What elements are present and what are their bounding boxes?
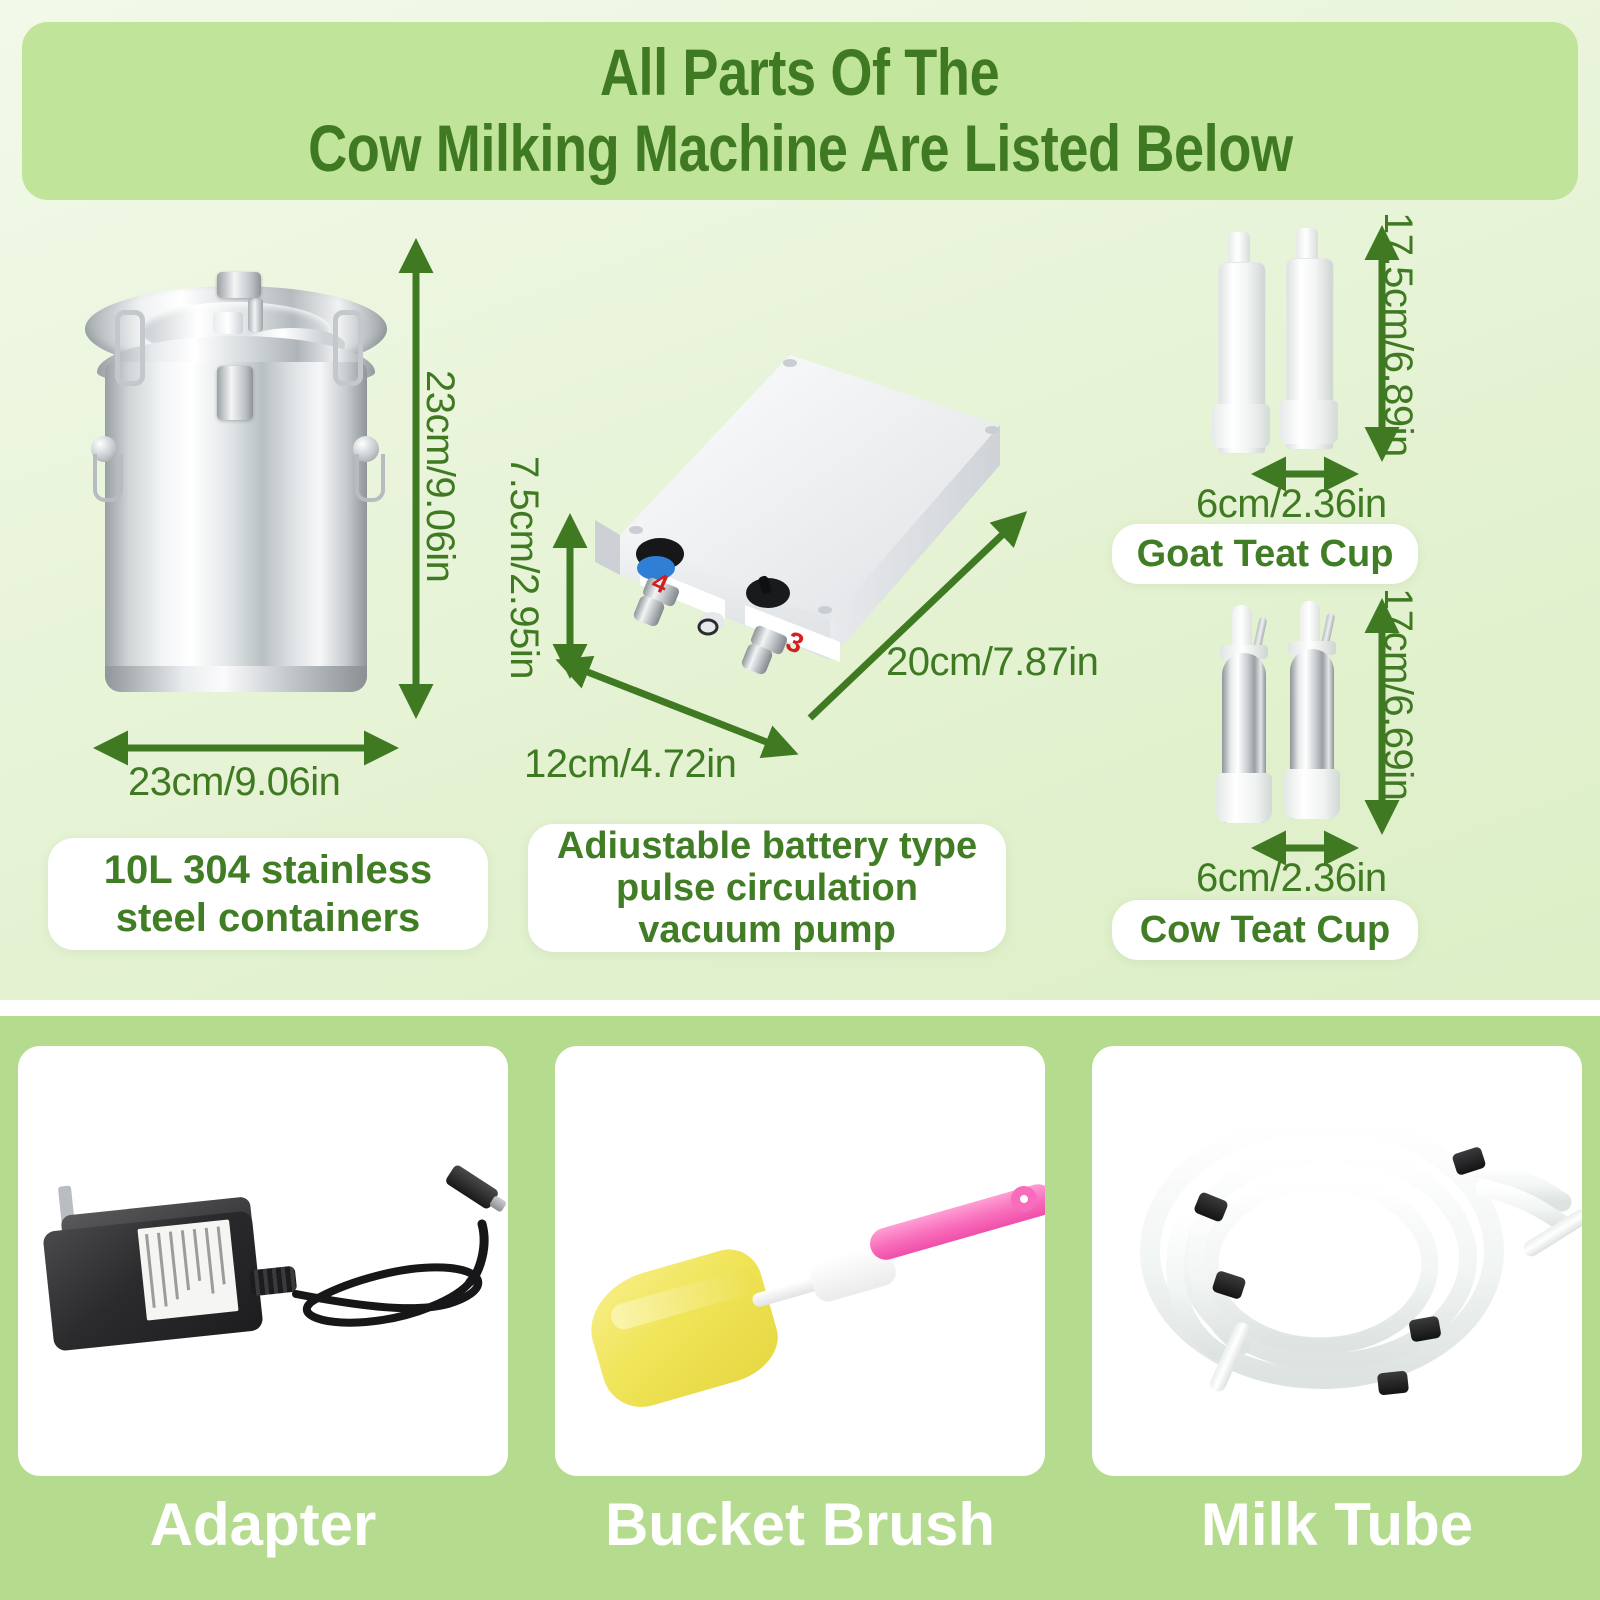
goat-cup-caption-pill: Goat Teat Cup [1112,524,1418,584]
bucket-caption-line2: steel containers [116,894,421,942]
bucket-brush-card [555,1046,1045,1476]
milk-tube-card [1092,1046,1582,1476]
bucket-height-label: 23cm/9.06in [417,370,462,582]
bottom-accessories-section: Adapter Bucket Brush Milk Tube [0,1016,1600,1600]
brush-sponge-head [579,1242,788,1417]
cow-cup-base-right [1284,769,1340,819]
cow-cup-height-label: 17cm/6.69in [1375,588,1420,800]
header-title-line2: Cow Milking Machine Are Listed Below [308,109,1293,187]
milk-tube-coil [1092,1046,1582,1476]
cow-cup-caption-pill: Cow Teat Cup [1112,900,1418,960]
goat-cup-height-label: 17.5cm/6.89in [1375,212,1420,457]
bucket-lid-knob [213,312,243,334]
goat-teat-cup-image [1200,232,1370,452]
header-banner: All Parts Of The Cow Milking Machine Are… [22,22,1578,200]
bucket-hook-right [355,454,385,502]
pump-width-label: 12cm/4.72in [524,742,736,787]
top-parts-section: All Parts Of The Cow Milking Machine Are… [0,0,1600,1000]
bucket-caption-pill: 10L 304 stainless steel containers [48,838,488,950]
bucket-caption-line1: 10L 304 stainless [104,846,432,894]
pump-left-edge [595,520,620,575]
tube-clip-5 [1377,1370,1409,1395]
pump-caption-line2: pulse circulation [616,867,918,909]
goat-cup-base-left [1212,404,1270,448]
header-title-line1: All Parts Of The [600,35,999,109]
bucket-latch-right [333,310,363,386]
pump-screw-right [985,426,999,434]
pump-height-label: 7.5cm/2.95in [501,456,546,679]
bucket-brush-caption: Bucket Brush [555,1490,1045,1559]
pump-screw-front-right [818,606,832,614]
bucket-vacuum-port [248,298,263,332]
cow-teat-cup-image [1200,605,1370,825]
milk-bucket-image [75,240,395,710]
pump-caption-line1: Adiustable battery type [557,825,977,867]
adapter-caption: Adapter [18,1490,508,1559]
pump-depth-label: 20cm/7.87in [886,640,1098,685]
adapter-card [18,1046,508,1476]
goat-cup-base-right [1280,400,1338,444]
infographic-page: All Parts Of The Cow Milking Machine Are… [0,0,1600,1600]
adapter-cable [18,1046,508,1476]
bucket-clamp-front [217,366,253,420]
bucket-width-label: 23cm/9.06in [128,760,340,805]
cow-cup-width-label: 6cm/2.36in [1196,856,1387,901]
goat-cup-width-label: 6cm/2.36in [1196,482,1387,527]
pump-screw-front-left [629,526,643,534]
milk-tube-caption: Milk Tube [1092,1490,1582,1559]
bucket-hook-left [93,454,123,502]
pump-caption-line3: vacuum pump [638,909,896,951]
cow-cup-base-left [1216,773,1272,823]
pump-caption-pill: Adiustable battery type pulse circulatio… [528,824,1006,952]
bucket-clamp-top [217,272,261,298]
pump-screw-back [783,359,797,367]
bucket-latch-left [115,310,145,386]
